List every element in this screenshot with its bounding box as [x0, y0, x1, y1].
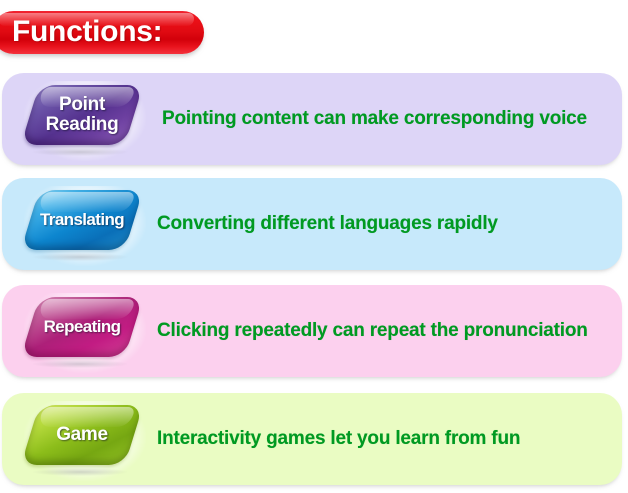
function-row-game[interactable]: Game Interactivity games let you learn f… [2, 393, 622, 485]
badge-shadow [32, 253, 128, 261]
badge-repeating[interactable]: Repeating [21, 297, 143, 357]
badge-shadow [32, 360, 128, 368]
badge-translating[interactable]: Translating [21, 190, 143, 250]
badge-game[interactable]: Game [21, 405, 143, 465]
badge-point-reading[interactable]: Point Reading [21, 85, 143, 145]
badge-label: Game [30, 405, 134, 465]
function-row-repeating[interactable]: Repeating Clicking repeatedly can repeat… [2, 285, 622, 377]
function-row-translating[interactable]: Translating Converting different languag… [2, 178, 622, 270]
page-title: Functions: [12, 15, 162, 49]
functions-header-banner: Functions: [0, 11, 204, 54]
function-description: Clicking repeatedly can repeat the pronu… [157, 285, 588, 377]
badge-shadow [32, 468, 128, 476]
function-description: Interactivity games let you learn from f… [157, 393, 520, 485]
badge-label: Repeating [30, 297, 134, 357]
function-description: Pointing content can make corresponding … [162, 73, 587, 165]
function-description: Converting different languages rapidly [157, 178, 498, 270]
badge-label: Point Reading [30, 85, 134, 145]
badge-shadow [32, 148, 128, 156]
badge-label: Translating [30, 190, 134, 250]
function-row-point-reading[interactable]: Point Reading Pointing content can make … [2, 73, 622, 165]
